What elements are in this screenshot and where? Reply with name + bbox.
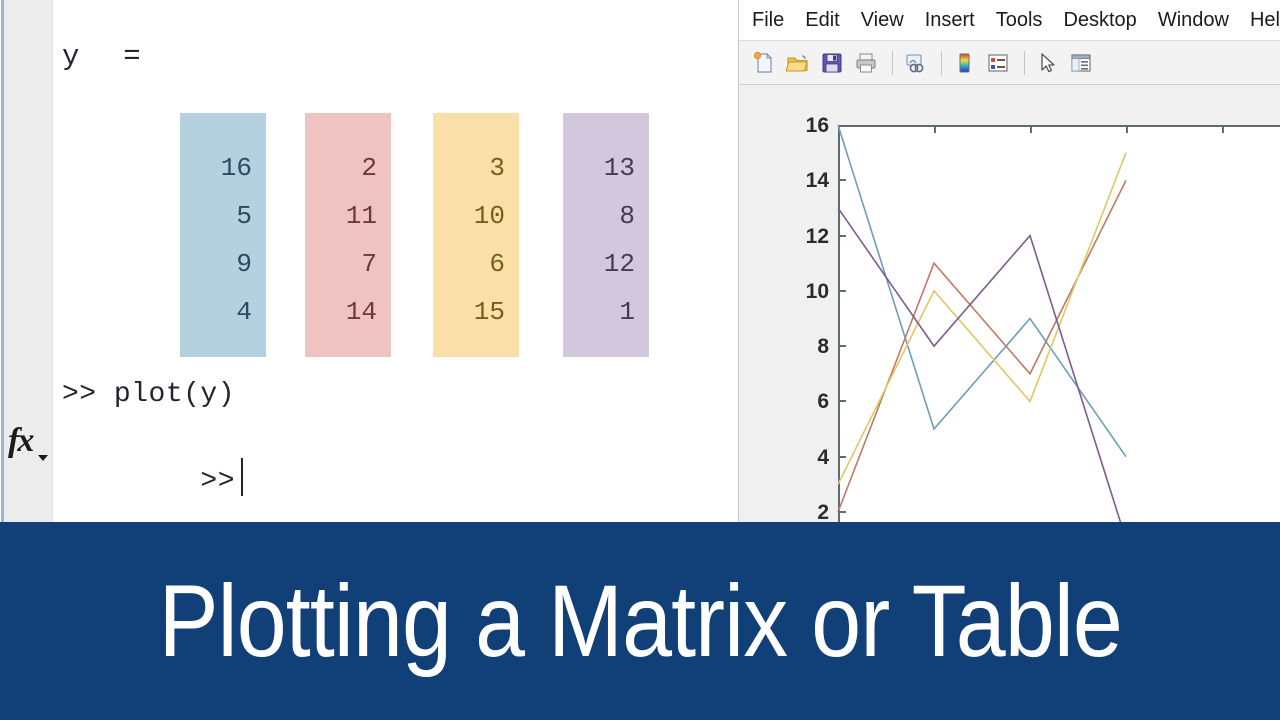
y-axis-tick-mark-12 bbox=[838, 235, 846, 237]
command-window-content[interactable]: y = 16594211714310615138121 >> plot(y) >… bbox=[53, 0, 738, 522]
link-plot-icon[interactable] bbox=[900, 48, 930, 78]
menu-item-file[interactable]: File bbox=[752, 9, 784, 32]
matrix-cell-r2-c4: 8 bbox=[563, 192, 649, 240]
matrix-cell-r3-c3: 6 bbox=[433, 240, 519, 288]
matrix-column-4: 138121 bbox=[563, 113, 649, 357]
new-figure-icon[interactable] bbox=[749, 48, 779, 78]
y-axis-tick-label-4: 4 bbox=[769, 446, 829, 470]
y-axis-tick-mark-14 bbox=[838, 179, 846, 181]
figure-tool-bar[interactable] bbox=[739, 41, 1280, 85]
colorbar-icon[interactable] bbox=[949, 48, 979, 78]
menu-item-insert[interactable]: Insert bbox=[925, 9, 975, 32]
y-axis-tick-label-2: 2 bbox=[769, 501, 829, 522]
y-axis-tick-label-10: 10 bbox=[769, 280, 829, 304]
y-axis-tick-label-12: 12 bbox=[769, 225, 829, 249]
open-folder-icon[interactable] bbox=[783, 48, 813, 78]
matlab-figure-window[interactable]: FileEditViewInsertToolsDesktopWindowHelp bbox=[738, 0, 1280, 522]
fx-dropdown-arrow-icon[interactable] bbox=[38, 455, 48, 461]
x-axis-tick-mark-2 bbox=[1030, 125, 1032, 133]
x-axis-tick-mark-3 bbox=[1126, 125, 1128, 133]
pointer-arrow-icon[interactable] bbox=[1032, 48, 1062, 78]
matrix-cell-r3-c4: 12 bbox=[563, 240, 649, 288]
matrix-cell-r4-c4: 1 bbox=[563, 288, 649, 336]
matrix-cell-r2-c2: 11 bbox=[305, 192, 391, 240]
matrix-cell-r3-c1: 9 bbox=[180, 240, 266, 288]
y-axis-tick-label-8: 8 bbox=[769, 335, 829, 359]
toolbar-separator bbox=[1024, 51, 1025, 75]
toolbar-separator bbox=[941, 51, 942, 75]
menu-item-edit[interactable]: Edit bbox=[805, 9, 839, 32]
matrix-column-1: 16594 bbox=[180, 113, 266, 357]
menu-item-help[interactable]: Help bbox=[1250, 9, 1280, 32]
menu-item-desktop[interactable]: Desktop bbox=[1063, 9, 1136, 32]
matrix-cell-r1-c3: 3 bbox=[433, 144, 519, 192]
active-prompt-line[interactable]: >> bbox=[62, 427, 243, 522]
y-axis-tick-mark-10 bbox=[838, 290, 846, 292]
matrix-cell-r1-c4: 13 bbox=[563, 144, 649, 192]
variable-name-line: y = bbox=[62, 40, 144, 73]
fx-function-browser-icon[interactable]: fx bbox=[8, 422, 32, 460]
title-banner: Plotting a Matrix or Table bbox=[0, 522, 1280, 720]
menu-item-window[interactable]: Window bbox=[1158, 9, 1229, 32]
matrix-cell-r1-c2: 2 bbox=[305, 144, 391, 192]
matrix-cell-r1-c1: 16 bbox=[180, 144, 266, 192]
y-axis-tick-mark-8 bbox=[838, 345, 846, 347]
matrix-column-3: 310615 bbox=[433, 113, 519, 357]
x-axis-tick-mark-1 bbox=[934, 125, 936, 133]
prompt-symbol: >> bbox=[200, 466, 235, 497]
save-icon[interactable] bbox=[817, 48, 847, 78]
y-axis-tick-label-14: 14 bbox=[769, 169, 829, 193]
matrix-cell-r4-c2: 14 bbox=[305, 288, 391, 336]
y-axis-tick-mark-2 bbox=[838, 511, 846, 513]
figure-menu-bar[interactable]: FileEditViewInsertToolsDesktopWindowHelp bbox=[739, 0, 1280, 41]
y-axis-tick-label-6: 6 bbox=[769, 390, 829, 414]
x-axis-tick-mark-4 bbox=[1222, 125, 1224, 133]
figure-plot-area[interactable]: 161412108642 bbox=[739, 85, 1280, 522]
toolbar-separator bbox=[892, 51, 893, 75]
menu-item-tools[interactable]: Tools bbox=[996, 9, 1043, 32]
executed-command-line: >> plot(y) bbox=[62, 379, 235, 410]
y-axis-tick-mark-6 bbox=[838, 400, 846, 402]
matrix-cell-r3-c2: 7 bbox=[305, 240, 391, 288]
menu-item-view[interactable]: View bbox=[861, 9, 904, 32]
text-cursor-caret bbox=[241, 458, 243, 496]
y-axis-tick-mark-4 bbox=[838, 456, 846, 458]
matlab-command-window[interactable]: y = 16594211714310615138121 >> plot(y) >… bbox=[0, 0, 738, 522]
plot-line-series-4 bbox=[838, 208, 1126, 522]
matrix-column-2: 211714 bbox=[305, 113, 391, 357]
y-axis-tick-label-16: 16 bbox=[769, 114, 829, 138]
legend-icon[interactable] bbox=[983, 48, 1013, 78]
matrix-cell-r4-c1: 4 bbox=[180, 288, 266, 336]
banner-title-text: Plotting a Matrix or Table bbox=[158, 563, 1121, 680]
property-inspector-icon[interactable] bbox=[1066, 48, 1096, 78]
print-icon[interactable] bbox=[851, 48, 881, 78]
matrix-cell-r2-c1: 5 bbox=[180, 192, 266, 240]
screenshot-root: y = 16594211714310615138121 >> plot(y) >… bbox=[0, 0, 1280, 720]
matrix-cell-r2-c3: 10 bbox=[433, 192, 519, 240]
matrix-cell-r4-c3: 15 bbox=[433, 288, 519, 336]
matrix-display: 16594211714310615138121 bbox=[53, 113, 738, 357]
